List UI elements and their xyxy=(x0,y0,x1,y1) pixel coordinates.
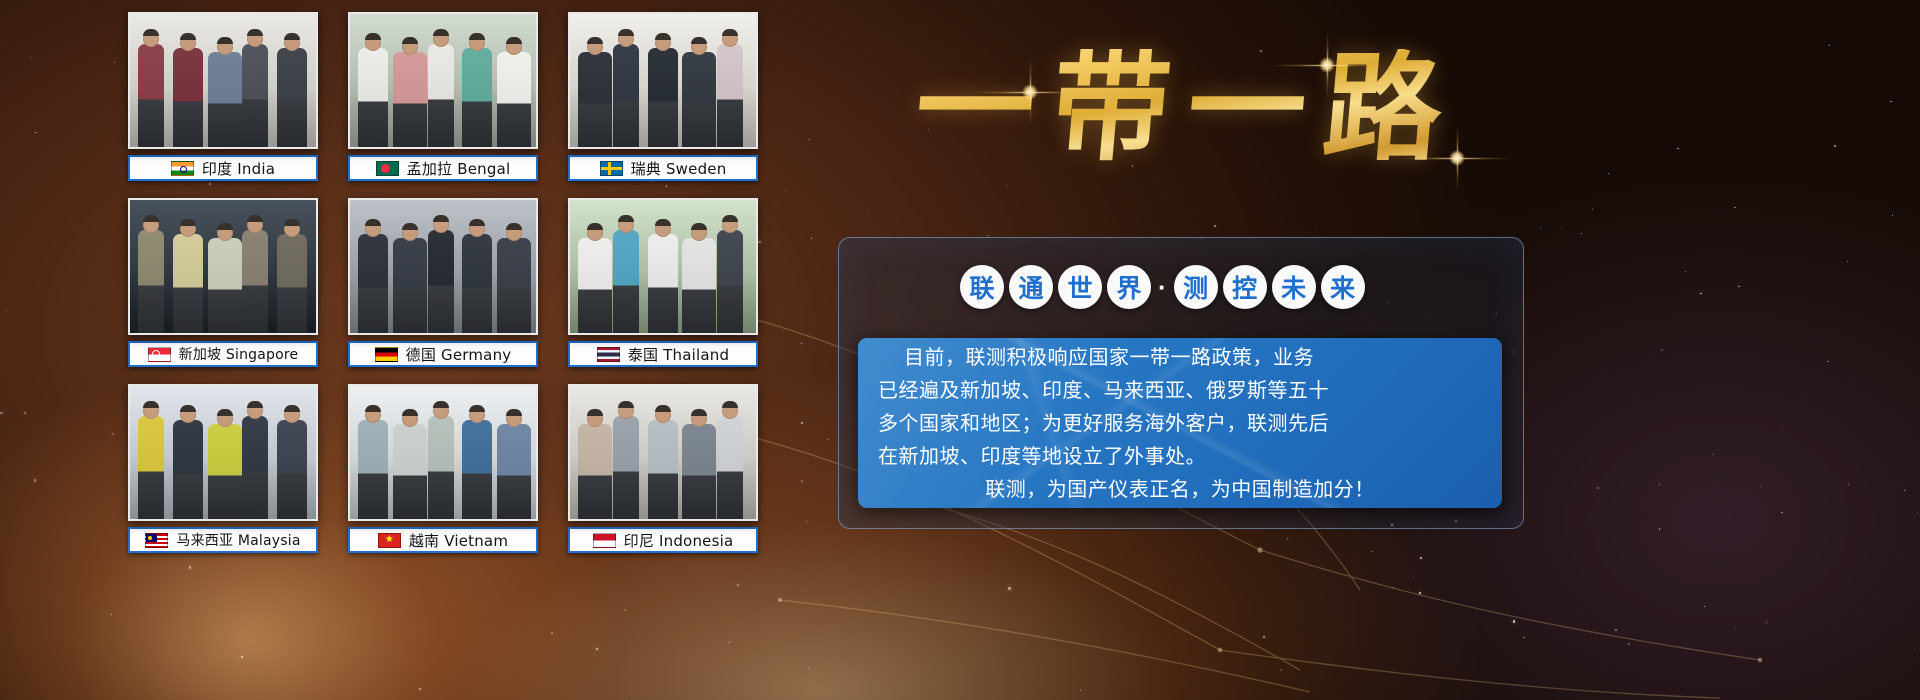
slogan-char-badge: 未 xyxy=(1272,265,1316,309)
flag-indonesia-icon xyxy=(593,533,616,548)
country-label[interactable]: 越南 Vietnam xyxy=(348,527,538,553)
flag-vietnam-icon xyxy=(378,533,401,548)
flag-thailand-icon xyxy=(597,347,620,362)
country-label-text: 越南 Vietnam xyxy=(409,530,508,551)
country-photo[interactable] xyxy=(348,384,538,521)
headline-text: 一带一路 xyxy=(895,49,1465,167)
country-photo[interactable] xyxy=(128,198,318,335)
country-label[interactable]: 孟加拉 Bengal xyxy=(348,155,538,181)
country-photo[interactable] xyxy=(568,384,758,521)
country-gallery-grid: 印度 India孟加拉 Bengal瑞典 Sweden新加坡 Singapore… xyxy=(128,12,758,592)
description-line: 在新加坡、印度等地设立了外事处。 xyxy=(878,440,1482,473)
description-line: 目前，联测积极响应国家一带一路政策，业务 xyxy=(878,341,1482,374)
country-label[interactable]: 印度 India xyxy=(128,155,318,181)
slogan-separator: · xyxy=(1156,274,1169,300)
flag-singapore-icon xyxy=(148,347,171,362)
slogan-char-badge: 联 xyxy=(960,265,1004,309)
slogan-char-badge: 通 xyxy=(1009,265,1053,309)
country-label-text: 印度 India xyxy=(202,158,275,179)
banner-stage: 印度 India孟加拉 Bengal瑞典 Sweden新加坡 Singapore… xyxy=(0,0,1920,700)
flag-bangladesh-icon xyxy=(376,161,399,176)
country-photo[interactable] xyxy=(128,384,318,521)
country-label-text: 瑞典 Sweden xyxy=(631,158,727,179)
country-photo[interactable] xyxy=(568,12,758,149)
country-card[interactable]: 印度 India xyxy=(128,12,318,192)
slogan-badges: 联通世界·测控未来 xyxy=(960,258,1400,316)
slogan-char-badge: 控 xyxy=(1223,265,1267,309)
description-line: 已经遍及新加坡、印度、马来西亚、俄罗斯等五十 xyxy=(878,374,1482,407)
description-box: 目前，联测积极响应国家一带一路政策，业务 已经遍及新加坡、印度、马来西亚、俄罗斯… xyxy=(858,338,1502,508)
country-label[interactable]: 瑞典 Sweden xyxy=(568,155,758,181)
flag-india-icon xyxy=(171,161,194,176)
country-label-text: 德国 Germany xyxy=(406,344,512,365)
flag-sweden-icon xyxy=(600,161,623,176)
headline-calligraphy: 一带一路 xyxy=(830,10,1530,205)
country-card[interactable]: 泰国 Thailand xyxy=(568,198,758,378)
country-card[interactable]: 越南 Vietnam xyxy=(348,384,538,564)
country-photo[interactable] xyxy=(568,198,758,335)
country-label-text: 泰国 Thailand xyxy=(628,344,729,365)
slogan-char-badge: 界 xyxy=(1107,265,1151,309)
description-line: 多个国家和地区；为更好服务海外客户，联测先后 xyxy=(878,407,1482,440)
country-label-text: 马来西亚 Malaysia xyxy=(176,530,300,550)
country-card[interactable]: 孟加拉 Bengal xyxy=(348,12,538,192)
country-label-text: 印尼 Indonesia xyxy=(624,530,734,551)
country-photo[interactable] xyxy=(348,12,538,149)
country-card[interactable]: 新加坡 Singapore xyxy=(128,198,318,378)
country-label[interactable]: 印尼 Indonesia xyxy=(568,527,758,553)
country-card[interactable]: 印尼 Indonesia xyxy=(568,384,758,564)
country-photo[interactable] xyxy=(348,198,538,335)
country-label[interactable]: 马来西亚 Malaysia xyxy=(128,527,318,553)
country-label[interactable]: 德国 Germany xyxy=(348,341,538,367)
country-photo[interactable] xyxy=(128,12,318,149)
flag-germany-icon xyxy=(375,347,398,362)
country-label-text: 新加坡 Singapore xyxy=(179,344,299,364)
slogan-char-badge: 世 xyxy=(1058,265,1102,309)
flag-malaysia-icon xyxy=(145,533,168,548)
country-card[interactable]: 德国 Germany xyxy=(348,198,538,378)
slogan-char-badge: 来 xyxy=(1321,265,1365,309)
slogan-char-badge: 测 xyxy=(1174,265,1218,309)
country-card[interactable]: 马来西亚 Malaysia xyxy=(128,384,318,564)
country-label[interactable]: 泰国 Thailand xyxy=(568,341,758,367)
description-line: 联测，为国产仪表正名，为中国制造加分！ xyxy=(878,473,1482,506)
country-label-text: 孟加拉 Bengal xyxy=(407,158,511,179)
country-card[interactable]: 瑞典 Sweden xyxy=(568,12,758,192)
country-label[interactable]: 新加坡 Singapore xyxy=(128,341,318,367)
